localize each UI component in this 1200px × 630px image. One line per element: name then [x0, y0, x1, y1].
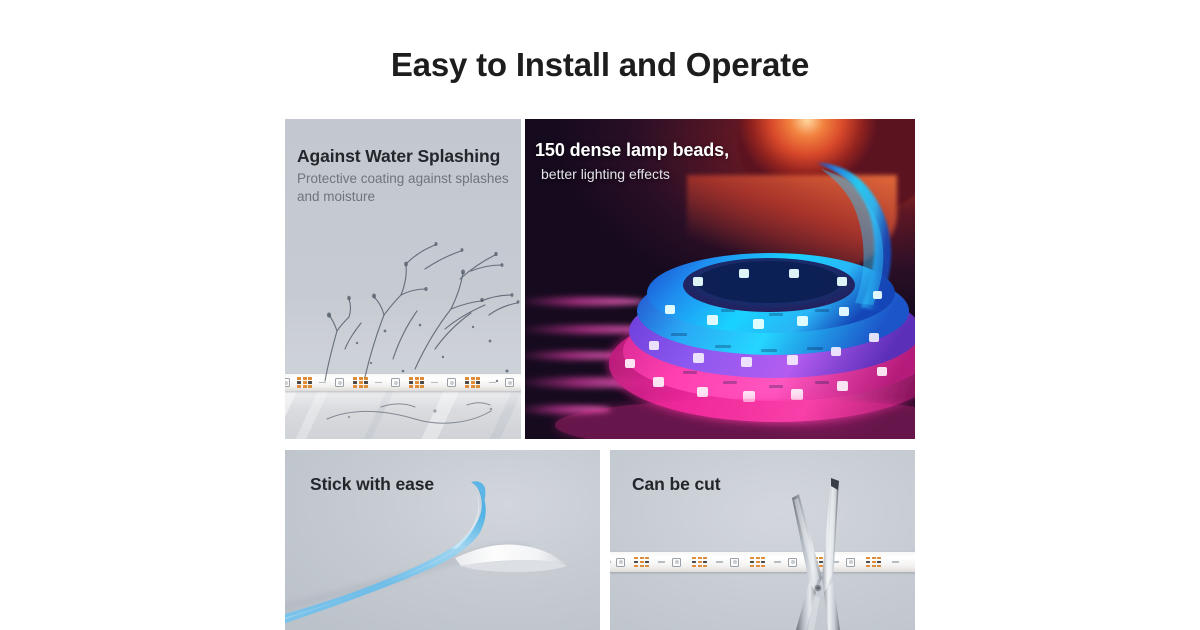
panel-dense-lamp-beads[interactable]: 150 dense lamp beads, better lighting ef…	[525, 119, 915, 439]
water-splash-illustration	[285, 119, 521, 439]
led-coil	[525, 119, 915, 439]
adhesive-tape-illustration	[285, 450, 600, 630]
panel-water-splashing[interactable]: Against Water Splashing Protective coati…	[285, 119, 521, 439]
feature-grid: Against Water Splashing Protective coati…	[285, 119, 915, 630]
page-title: Easy to Install and Operate	[0, 44, 1200, 86]
feature-page: Easy to Install and Operate	[0, 0, 1200, 630]
scissors-icon	[610, 450, 915, 630]
panel-stick-with-ease[interactable]: Stick with ease	[285, 450, 600, 630]
panel-can-be-cut[interactable]: Can be cut	[610, 450, 915, 630]
